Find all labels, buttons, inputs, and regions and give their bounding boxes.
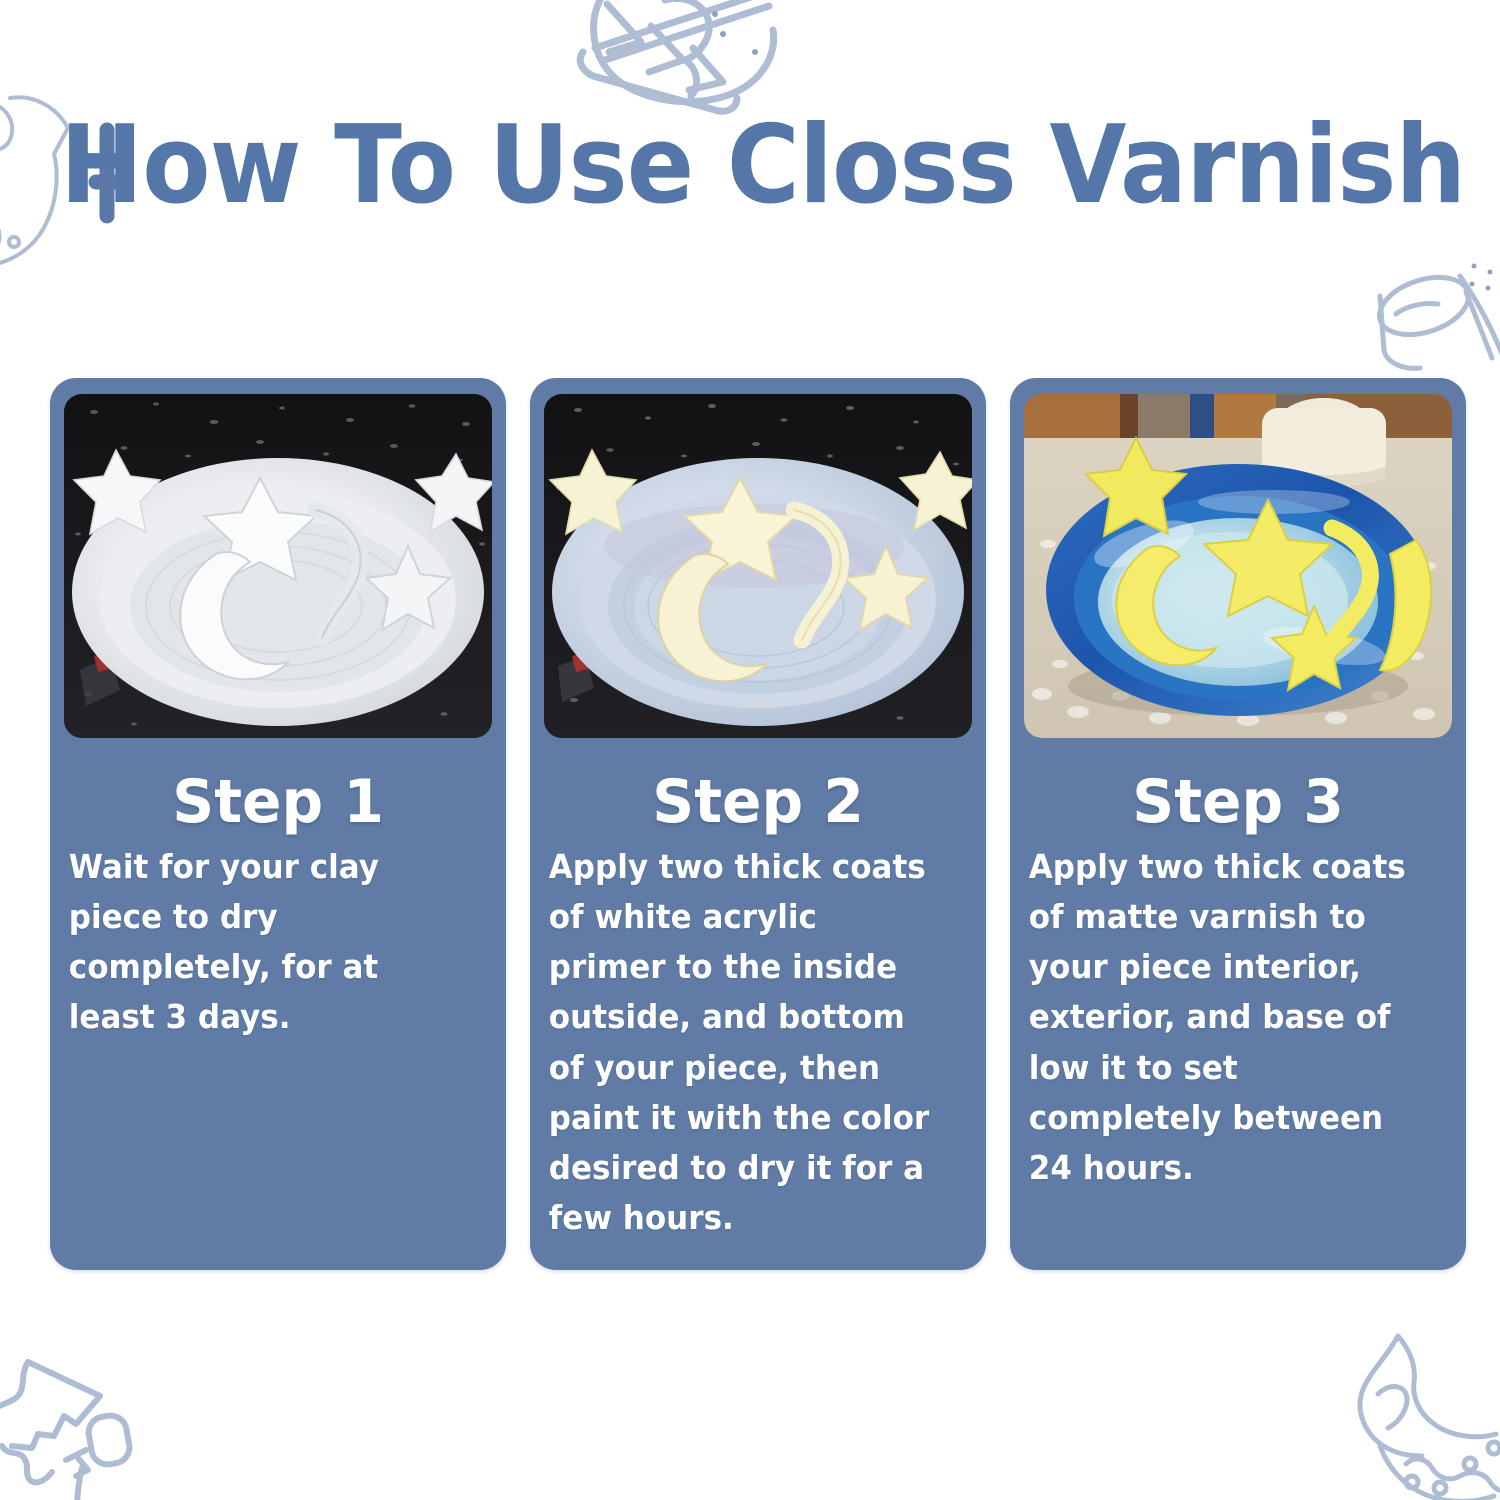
step-card-3: Step 3 Apply two thick coats of matte va…	[1010, 378, 1466, 1270]
page-title: How To Use Closs Varnish	[60, 112, 1440, 220]
pouring-cup-line-art-icon	[1362, 254, 1500, 384]
pottery-vase-line-art-icon	[1336, 1336, 1500, 1500]
step-1-body: Wait for your clay piece to dry complete…	[50, 842, 479, 1043]
step-3-photo	[1024, 394, 1452, 738]
infographic-canvas: How To Use Closs Varnish	[0, 0, 1500, 1500]
pottery-bowl-line-art-icon	[565, 0, 795, 115]
step-1-heading: Step 1	[172, 772, 384, 832]
step-card-1: Step 1 Wait for your clay piece to dry c…	[50, 378, 506, 1270]
step-card-2: Step 2 Apply two thick coats of white ac…	[530, 378, 986, 1270]
steps-row: Step 1 Wait for your clay piece to dry c…	[50, 378, 1466, 1270]
step-3-heading: Step 3	[1132, 772, 1344, 832]
step-2-photo	[544, 394, 972, 738]
spray-gun-line-art-icon	[0, 1338, 224, 1500]
page-title-wrapper: How To Use Closs Varnish	[0, 112, 1500, 220]
step-3-body: Apply two thick coats of matte varnish t…	[1010, 842, 1439, 1193]
step-2-body: Apply two thick coats of white acrylic p…	[530, 842, 959, 1243]
step-1-photo	[64, 394, 492, 738]
step-2-heading: Step 2	[652, 772, 864, 832]
